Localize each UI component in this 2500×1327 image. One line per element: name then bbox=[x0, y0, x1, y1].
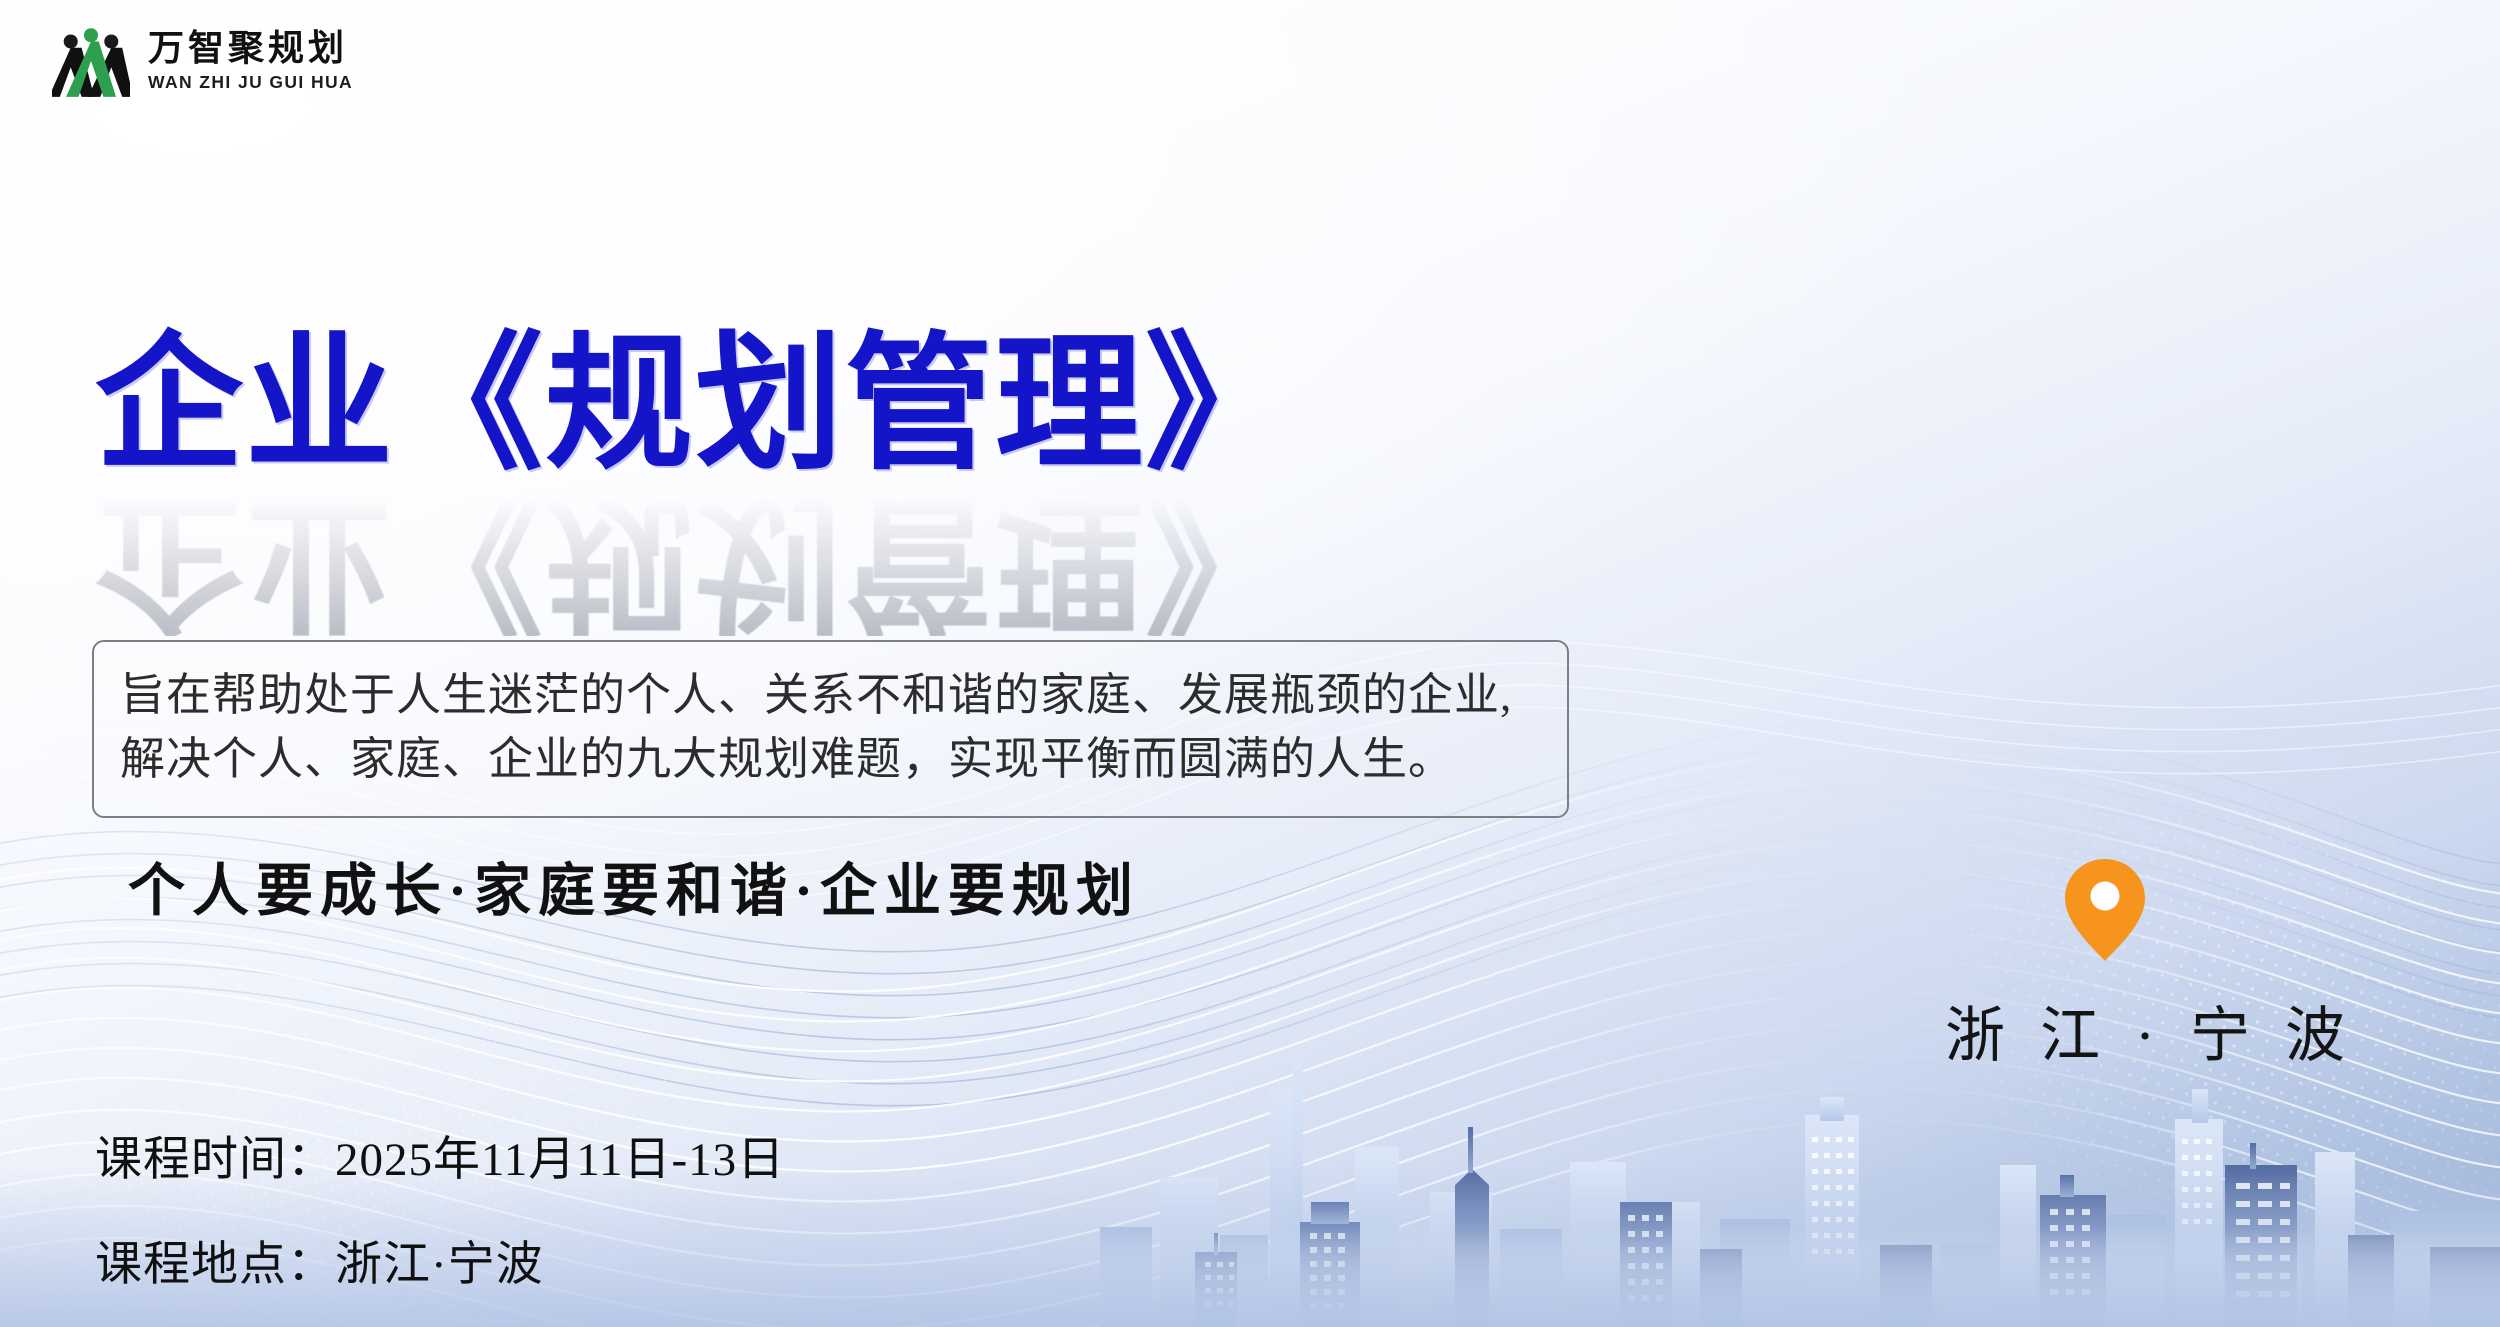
map-pin-icon bbox=[2062, 855, 2148, 965]
description-box: 旨在帮助处于人生迷茫的个人、关系不和谐的家庭、发展瓶颈的企业, 解决个人、家庭、… bbox=[92, 640, 1569, 818]
course-time: 课程时间：2025年11月11日-13日 bbox=[95, 1120, 785, 1189]
brand-logo: 万智聚规划 WAN ZHI JU GUI HUA bbox=[52, 22, 353, 100]
description-line-1: 旨在帮助处于人生迷茫的个人、关系不和谐的家庭、发展瓶颈的企业, bbox=[120, 664, 1541, 728]
location-block: 浙 江 · 宁 波 bbox=[1945, 855, 2265, 1074]
hero-title-block: 企业《规划管理》 企业《规划管理》 bbox=[95, 330, 1595, 636]
location-label: 浙 江 · 宁 波 bbox=[1945, 987, 2265, 1074]
page-title: 企业《规划管理》 bbox=[95, 330, 1595, 481]
brand-name-cn: 万智聚规划 bbox=[148, 30, 353, 66]
schedule-info: 课程时间：2025年11月11日-13日 课程地点：浙江·宁波 bbox=[95, 1120, 785, 1294]
description-line-2: 解决个人、家庭、企业的九大规划难题，实现平衡而圆满的人生。 bbox=[120, 728, 1541, 792]
poster-canvas: 万智聚规划 WAN ZHI JU GUI HUA 企业《规划管理》 企业《规划管… bbox=[0, 0, 2500, 1327]
course-place: 课程地点：浙江·宁波 bbox=[95, 1225, 785, 1294]
tagline: 个人要成长·家庭要和谐·企业要规划 bbox=[128, 845, 1140, 927]
brand-name-en: WAN ZHI JU GUI HUA bbox=[148, 74, 353, 92]
three-people-logo-icon bbox=[52, 22, 130, 100]
page-title-reflection: 企业《规划管理》 bbox=[95, 485, 1595, 636]
